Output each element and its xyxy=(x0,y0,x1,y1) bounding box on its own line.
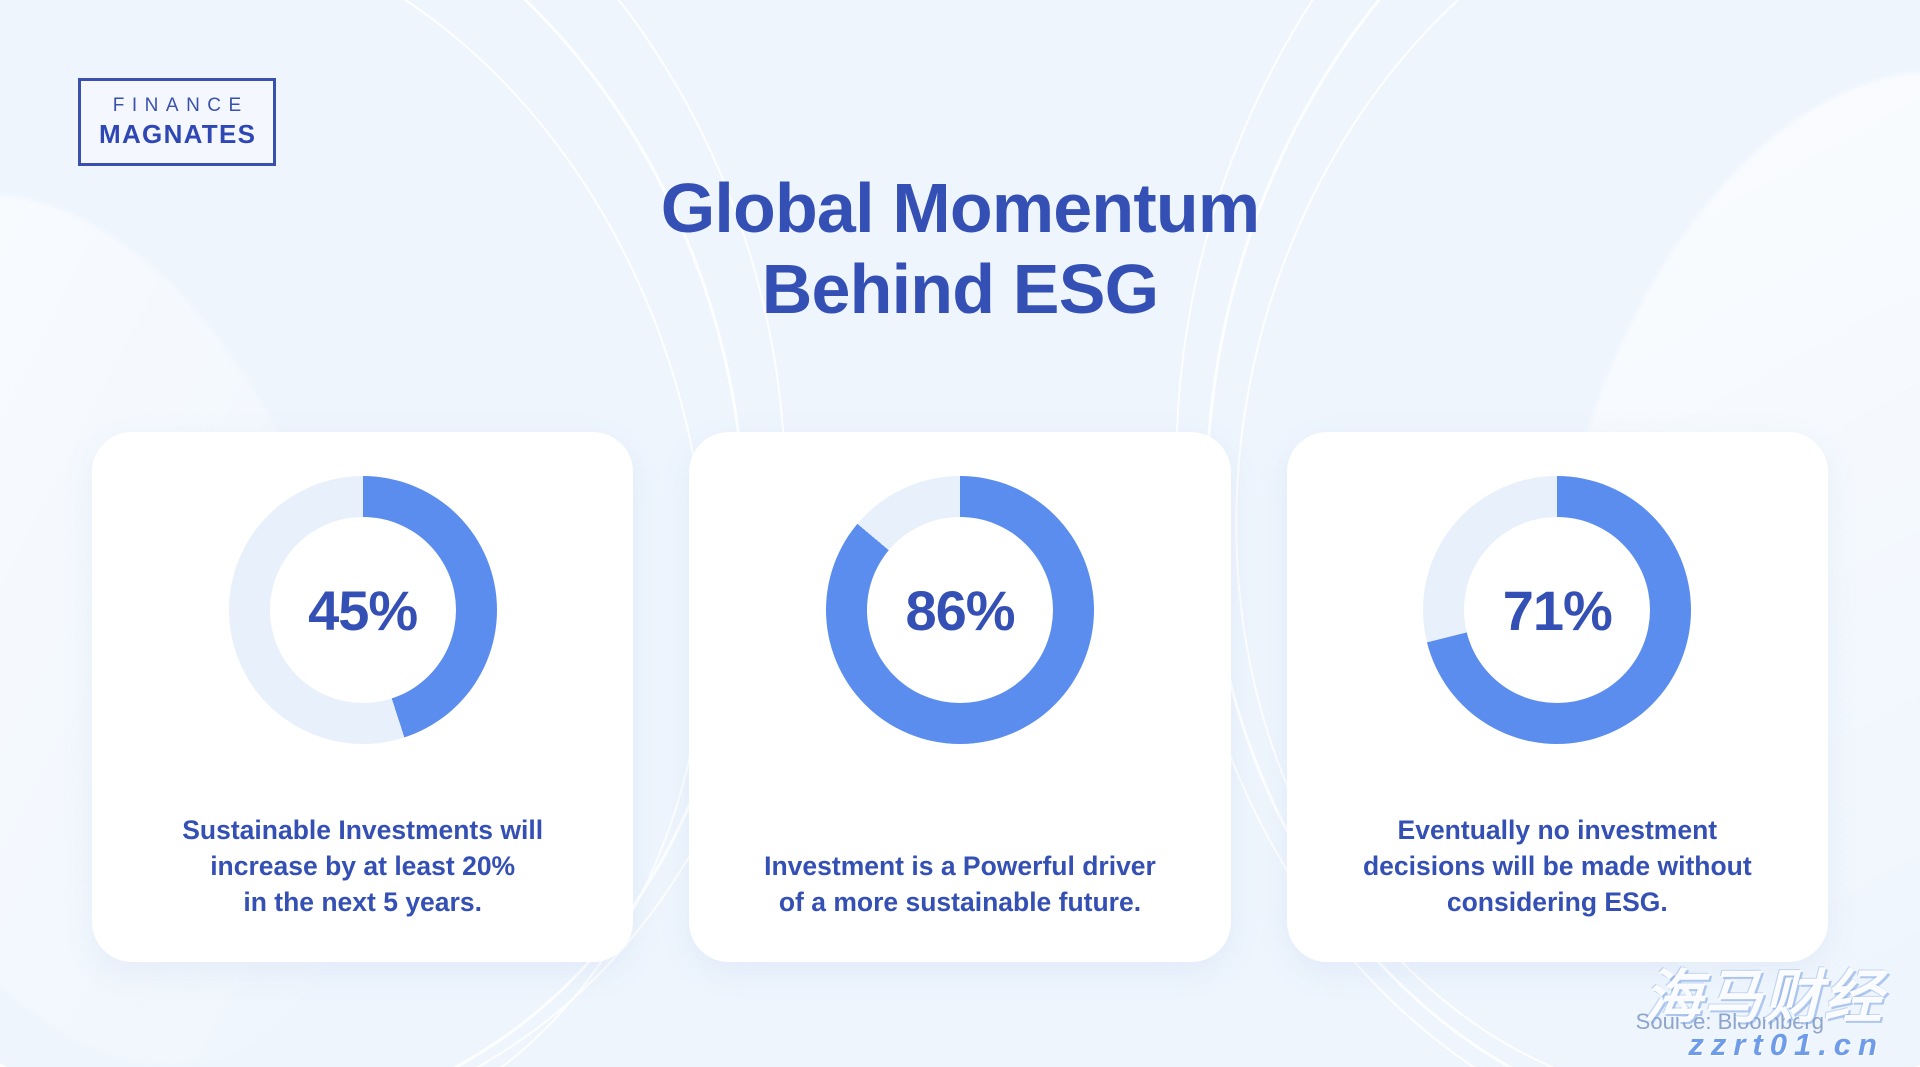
stat-card-row: 45% Sustainable Investments will increas… xyxy=(92,432,1828,962)
donut-chart-45: 45% xyxy=(229,476,497,744)
stat-caption-45: Sustainable Investments will increase by… xyxy=(143,812,583,920)
stat-caption-71-line3: considering ESG. xyxy=(1337,884,1777,920)
stat-caption-71-line1: Eventually no investment xyxy=(1337,812,1777,848)
stat-card-71: 71% Eventually no investment decisions w… xyxy=(1287,432,1828,962)
brand-logo-line1: FINANCE xyxy=(105,95,248,117)
donut-chart-86: 86% xyxy=(826,476,1094,744)
stat-caption-45-line2: increase by at least 20% xyxy=(143,848,583,884)
donut-value-71: 71% xyxy=(1503,578,1612,643)
stat-caption-86-line2: of a more sustainable future. xyxy=(740,884,1180,920)
brand-logo-line2: MAGNATES xyxy=(98,119,257,150)
donut-center-45: 45% xyxy=(270,517,456,703)
stat-caption-71-line2: decisions will be made without xyxy=(1337,848,1777,884)
donut-center-71: 71% xyxy=(1464,517,1650,703)
stat-caption-45-line3: in the next 5 years. xyxy=(143,884,583,920)
stat-caption-71: Eventually no investment decisions will … xyxy=(1337,812,1777,920)
page-title-line1: Global Momentum xyxy=(0,168,1920,249)
brand-logo: FINANCE MAGNATES xyxy=(78,78,276,166)
donut-center-86: 86% xyxy=(867,517,1053,703)
source-attribution: Source: Bloomberg xyxy=(1636,1009,1824,1035)
stat-card-45: 45% Sustainable Investments will increas… xyxy=(92,432,633,962)
page-title: Global Momentum Behind ESG xyxy=(0,168,1920,330)
stat-caption-86: Investment is a Powerful driver of a mor… xyxy=(740,848,1180,920)
page-title-line2: Behind ESG xyxy=(0,249,1920,330)
stat-caption-45-line1: Sustainable Investments will xyxy=(143,812,583,848)
stat-caption-86-line1: Investment is a Powerful driver xyxy=(740,848,1180,884)
donut-value-45: 45% xyxy=(308,578,417,643)
stat-card-86: 86% Investment is a Powerful driver of a… xyxy=(689,432,1230,962)
donut-value-86: 86% xyxy=(905,578,1014,643)
donut-chart-71: 71% xyxy=(1423,476,1691,744)
